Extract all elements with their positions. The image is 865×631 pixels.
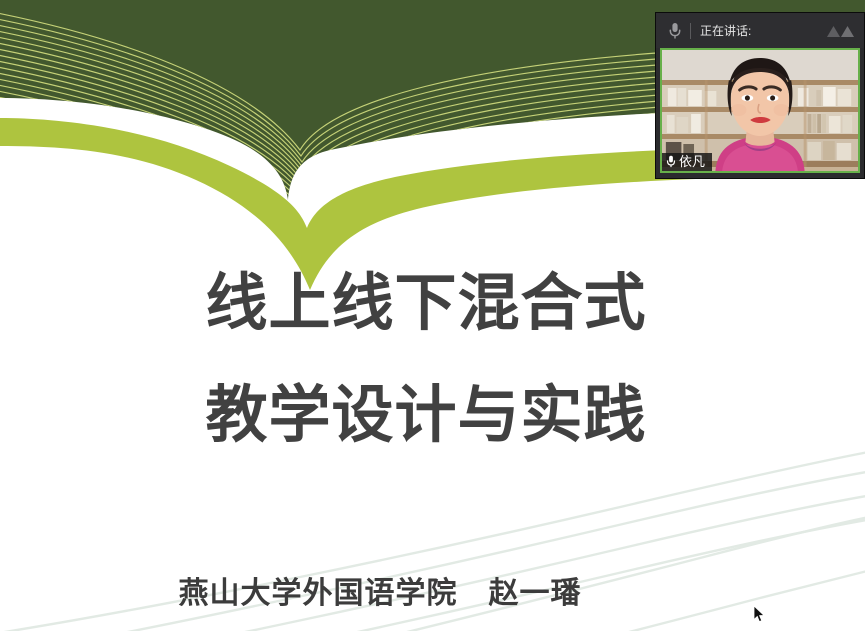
topbar-separator xyxy=(690,23,691,39)
slide-title-line-2: 教学设计与实践 xyxy=(166,360,686,472)
microphone-icon xyxy=(666,155,676,168)
video-panel-topbar: 正在讲话: xyxy=(656,13,864,48)
slide-title-line-1: 线上线下混合式 xyxy=(166,248,686,360)
screen: 线上线下混合式 教学设计与实践 燕山大学外国语学院 赵一璠 正在讲话: xyxy=(0,0,865,631)
slide-title: 线上线下混合式 教学设计与实践 xyxy=(166,248,686,472)
microphone-icon[interactable] xyxy=(668,22,682,40)
video-layout-icon[interactable] xyxy=(826,23,856,39)
participant-name-label: 依凡 xyxy=(679,155,705,168)
slide-subtitle: 燕山大学外国语学院 赵一璠 xyxy=(120,568,640,612)
participant-video-tile[interactable]: 依凡 xyxy=(660,48,860,173)
speaking-status-label: 正在讲话: xyxy=(700,22,826,39)
video-conference-panel[interactable]: 正在讲话: xyxy=(655,12,865,179)
participant-name-badge: 依凡 xyxy=(662,153,712,171)
